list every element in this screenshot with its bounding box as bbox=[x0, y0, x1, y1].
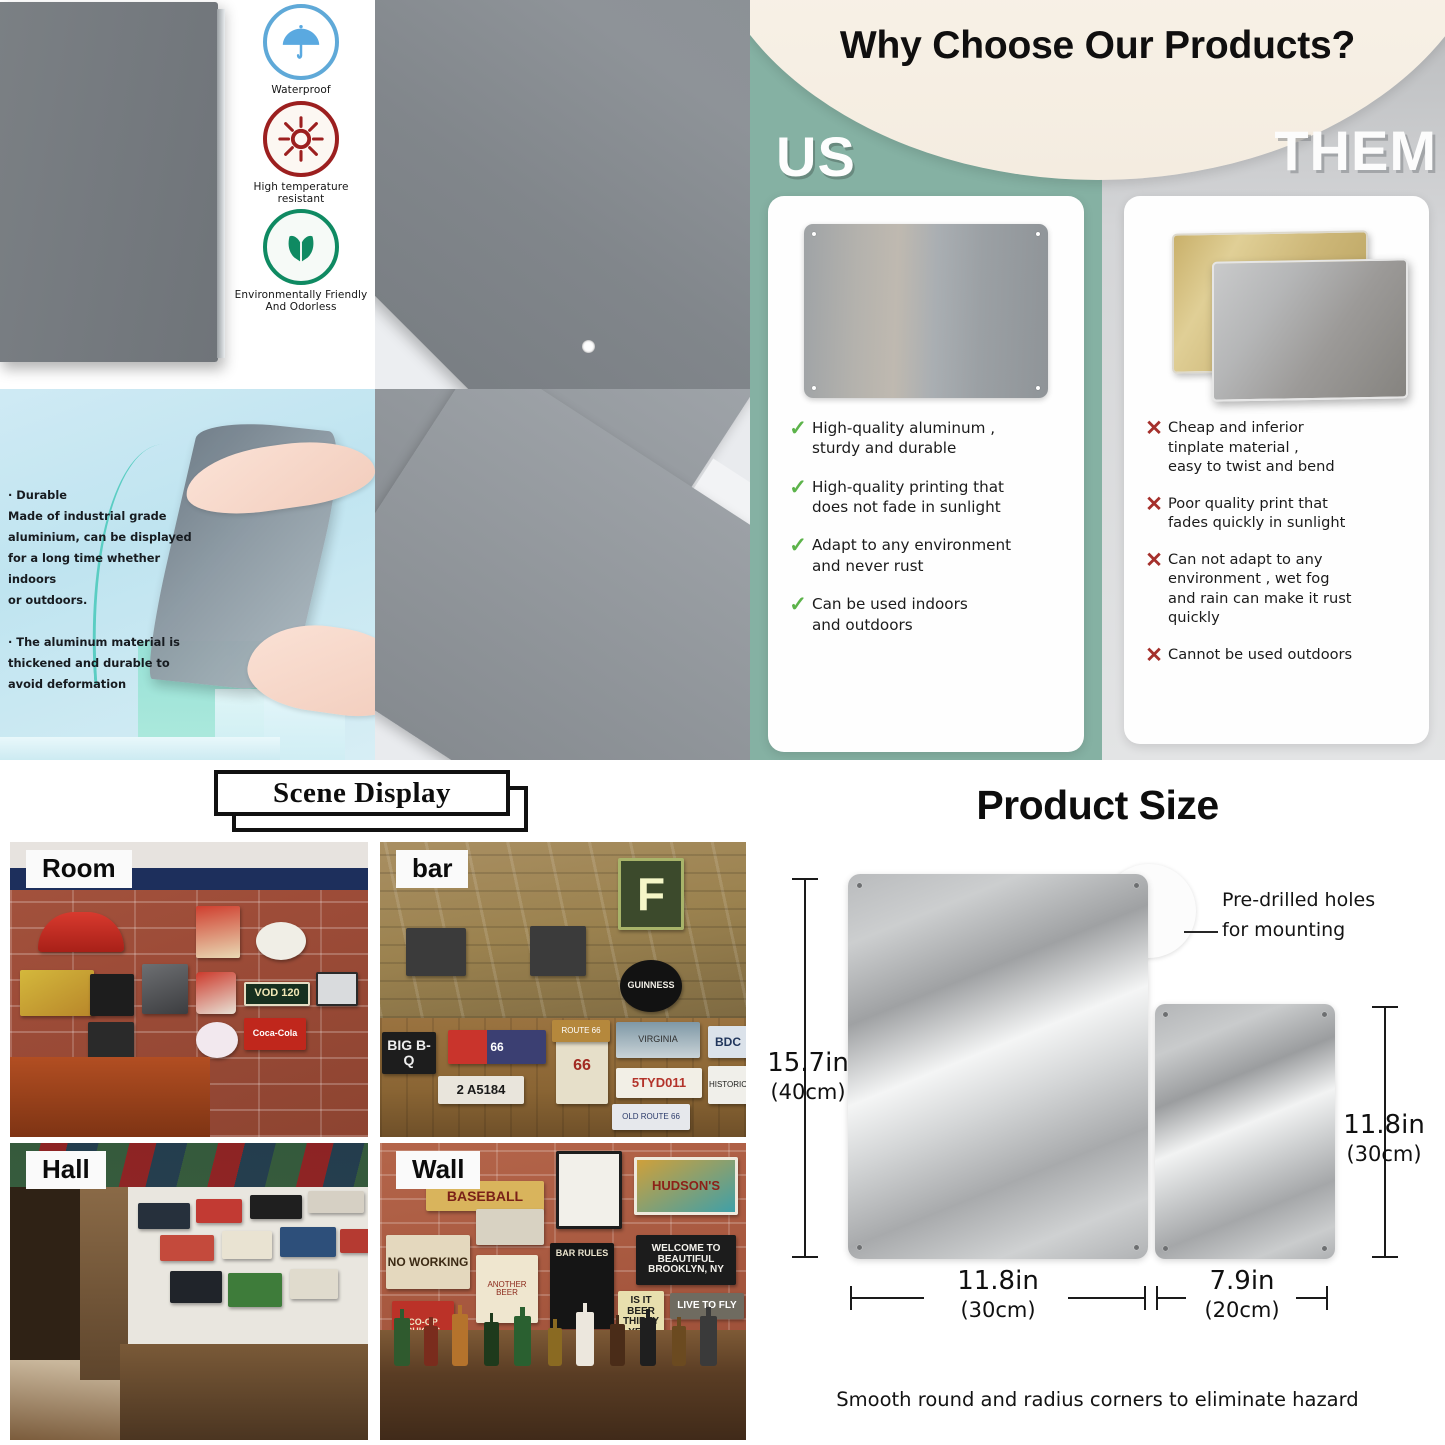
pre-drilled-hole-icon bbox=[857, 883, 862, 888]
pre-drilled-hole-icon bbox=[1322, 1246, 1327, 1251]
metal-sheet bbox=[375, 0, 750, 389]
wall-sign bbox=[90, 974, 134, 1016]
durability-line: · The aluminum material is bbox=[8, 632, 196, 653]
bottle bbox=[548, 1328, 562, 1366]
sign-bus-poster bbox=[476, 1209, 544, 1245]
dim-line-big-width bbox=[1068, 1297, 1144, 1299]
wall-sign bbox=[196, 1022, 238, 1058]
wall-plaque bbox=[308, 1191, 364, 1213]
pre-drilled-holes-label: Pre-drilled holes for mounting bbox=[1222, 885, 1442, 946]
durability-demo-panel: · Durable Made of industrial grade alumi… bbox=[0, 389, 375, 760]
us-bullet-item: ✓ High-quality printing that does not fa… bbox=[784, 477, 1072, 518]
umbrella-icon bbox=[263, 4, 339, 80]
wall-plaque bbox=[250, 1195, 302, 1219]
license-plate-66: 66 bbox=[448, 1030, 546, 1064]
product-size-panel: Product Size Pre-drilled holes for mount… bbox=[750, 760, 1445, 1445]
corner-hole-icon bbox=[1036, 386, 1040, 390]
corner-hole-icon bbox=[812, 232, 816, 236]
wine-rack bbox=[406, 928, 466, 976]
license-plate-california: 5TYD011 bbox=[616, 1068, 702, 1098]
small-width-in: 7.9in bbox=[1186, 1266, 1298, 1298]
marquee-letter-f: F bbox=[618, 858, 684, 930]
durability-line: thickened and durable to bbox=[8, 653, 196, 674]
them-heading: THEM bbox=[1274, 118, 1437, 183]
scene-tag-room: Room bbox=[26, 850, 132, 888]
route-sign: ROUTE 66 bbox=[552, 1020, 610, 1042]
scene-display-header: Scene Display bbox=[0, 760, 750, 838]
durability-line: or outdoors. bbox=[8, 590, 196, 611]
bottle bbox=[700, 1316, 717, 1366]
dim-line-big-width bbox=[852, 1297, 924, 1299]
pedestal-base bbox=[0, 737, 280, 760]
big-width-in: 11.8in bbox=[928, 1266, 1068, 1298]
them-bullet-text: Cheap and inferior tinplate material , e… bbox=[1168, 418, 1335, 477]
durability-line: Made of industrial grade bbox=[8, 506, 196, 527]
bottle bbox=[484, 1322, 499, 1366]
wall-plaque bbox=[138, 1203, 190, 1229]
scene-tag-hall: Hall bbox=[26, 1151, 106, 1189]
fuel-sign: VIRGINIA bbox=[616, 1022, 700, 1058]
big-width-cm: (30cm) bbox=[928, 1298, 1068, 1324]
license-plate-virginia: OLD ROUTE 66 bbox=[612, 1104, 690, 1130]
them-bullet-item: ✕ Cheap and inferior tinplate material ,… bbox=[1140, 418, 1417, 477]
diagonal-sheets-photo bbox=[375, 389, 750, 760]
license-plate-bdc: BDC bbox=[708, 1026, 746, 1058]
scene-tag-wall: Wall bbox=[396, 1151, 480, 1189]
scene-photo-room: Room VOD 120 Coca-Cola bbox=[10, 842, 368, 1137]
scene-display-title: Scene Display bbox=[273, 777, 451, 810]
sun-icon bbox=[263, 101, 339, 177]
check-icon: ✓ bbox=[784, 418, 812, 440]
scene-photo-hall: Hall bbox=[10, 1143, 368, 1440]
dim-cap bbox=[1372, 1256, 1398, 1258]
wall-plaque bbox=[222, 1231, 272, 1259]
wall-sign bbox=[20, 970, 94, 1016]
bottle bbox=[394, 1318, 410, 1366]
feature-high-temperature: High temperature resistant bbox=[233, 101, 369, 206]
durability-line: · Durable bbox=[8, 485, 196, 506]
scene-display-badge: Scene Display bbox=[214, 770, 510, 816]
check-icon: ✓ bbox=[784, 477, 812, 499]
wall-plaque bbox=[340, 1229, 368, 1253]
us-product-image bbox=[804, 224, 1048, 398]
table bbox=[10, 1057, 210, 1137]
us-bullet-text: High-quality aluminum , sturdy and durab… bbox=[812, 418, 995, 459]
wall-plaque bbox=[196, 1199, 242, 1223]
us-bullet-list: ✓ High-quality aluminum , sturdy and dur… bbox=[784, 418, 1072, 653]
feature-label: Waterproof bbox=[271, 85, 330, 97]
big-height-label: 15.7in (40cm) bbox=[754, 1048, 862, 1105]
us-bullet-text: High-quality printing that does not fade… bbox=[812, 477, 1004, 518]
guinness-sign: GUINNESS bbox=[620, 960, 682, 1012]
why-choose-panel: Why Choose Our Products? US THEM ✓ High-… bbox=[750, 0, 1445, 760]
bottle bbox=[640, 1318, 656, 1366]
bottle bbox=[610, 1324, 625, 1366]
wall-sign bbox=[196, 906, 240, 958]
dim-line-small-width bbox=[1296, 1297, 1326, 1299]
wall-sign bbox=[88, 1022, 134, 1060]
dim-cap bbox=[792, 878, 818, 880]
bottle bbox=[514, 1316, 531, 1366]
features-panel: Waterproof bbox=[0, 0, 375, 389]
pre-drilled-hole-icon bbox=[1322, 1012, 1327, 1017]
sign-another-beer: ANOTHER BEER bbox=[476, 1255, 538, 1323]
large-plate-image bbox=[848, 874, 1148, 1259]
wall-sign bbox=[142, 964, 188, 1014]
license-plate-number: 2 A5184 bbox=[438, 1076, 524, 1104]
size-note: Smooth round and radius corners to elimi… bbox=[750, 1388, 1445, 1411]
mounting-hole bbox=[582, 340, 595, 353]
small-height-label: 11.8in (30cm) bbox=[1328, 1110, 1440, 1167]
feature-label: Environmentally Friendly And Odorless bbox=[233, 290, 369, 314]
bottle bbox=[672, 1326, 686, 1366]
them-card: ✕ Cheap and inferior tinplate material ,… bbox=[1124, 196, 1429, 744]
scene-photo-bar: bar F GUINNESS BIG B-Q 66 2 A5184 66 ROU… bbox=[380, 842, 746, 1137]
dim-cap bbox=[792, 1256, 818, 1258]
dim-cap bbox=[1156, 1286, 1158, 1310]
callout-leader-line bbox=[1184, 931, 1218, 933]
scene-photo-wall: Wall BASEBALL HUDSON'S NO WORKING ANOTHE… bbox=[380, 1143, 746, 1440]
pre-drilled-hole-icon bbox=[1163, 1246, 1168, 1251]
product-size-title: Product Size bbox=[750, 782, 1445, 829]
pre-drilled-hole-icon bbox=[1134, 883, 1139, 888]
bottle bbox=[452, 1314, 468, 1366]
sign-hudsons: HUDSON'S bbox=[634, 1157, 738, 1215]
small-height-in: 11.8in bbox=[1328, 1110, 1440, 1142]
sign-brooklyn: WELCOME TO BEAUTIFUL BROOKLYN, NY bbox=[636, 1235, 736, 1285]
them-bullet-item: ✕ Can not adapt to any environment , wet… bbox=[1140, 550, 1417, 628]
us-bullet-item: ✓ High-quality aluminum , sturdy and dur… bbox=[784, 418, 1072, 459]
feature-icon-column: Waterproof bbox=[233, 4, 369, 314]
small-width-cm: (20cm) bbox=[1186, 1298, 1298, 1324]
historic-sign: HISTORIC bbox=[708, 1066, 746, 1104]
product-infographic: Waterproof bbox=[0, 0, 1445, 1445]
license-plate: BIG B-Q bbox=[382, 1032, 436, 1074]
wall-plaque bbox=[160, 1235, 214, 1261]
big-width-label: 11.8in (30cm) bbox=[928, 1266, 1068, 1323]
us-bullet-item: ✓ Adapt to any environment and never rus… bbox=[784, 535, 1072, 576]
durability-line: avoid deformation bbox=[8, 674, 196, 695]
cross-icon: ✕ bbox=[1140, 550, 1168, 572]
wall-plaque bbox=[170, 1271, 222, 1303]
feature-waterproof: Waterproof bbox=[233, 4, 369, 97]
dim-cap bbox=[1326, 1286, 1328, 1310]
wall-plaque bbox=[290, 1269, 338, 1299]
wall-sign bbox=[256, 922, 306, 960]
corner-hole-icon bbox=[1036, 232, 1040, 236]
big-height-in: 15.7in bbox=[754, 1048, 862, 1080]
dim-cap bbox=[850, 1286, 852, 1310]
wall-plaque bbox=[228, 1273, 282, 1307]
pre-drilled-hole-icon bbox=[1134, 1245, 1139, 1250]
them-product-image bbox=[1154, 220, 1404, 396]
scene-photo-grid: Room VOD 120 Coca-Cola bar F GUINNESS BI… bbox=[0, 838, 750, 1445]
durability-line: aluminium, can be displayed bbox=[8, 527, 196, 548]
them-bullet-text: Can not adapt to any environment , wet f… bbox=[1168, 550, 1352, 628]
wall-sign bbox=[196, 972, 236, 1014]
them-bullet-text: Poor quality print that fades quickly in… bbox=[1168, 494, 1345, 533]
pre-drilled-hole-icon bbox=[1163, 1012, 1168, 1017]
dim-line-small-width bbox=[1158, 1297, 1186, 1299]
them-bullet-list: ✕ Cheap and inferior tinplate material ,… bbox=[1140, 418, 1417, 684]
us-bullet-text: Can be used indoors and outdoors bbox=[812, 594, 968, 635]
dim-cap bbox=[1372, 1006, 1398, 1008]
bottle bbox=[576, 1312, 594, 1366]
aluminum-plate-image bbox=[0, 2, 218, 362]
pre-drilled-hole-icon bbox=[857, 1245, 862, 1250]
dim-cap bbox=[1144, 1286, 1146, 1310]
us-bullet-text: Adapt to any environment and never rust bbox=[812, 535, 1011, 576]
tables bbox=[120, 1344, 368, 1440]
wall-sign bbox=[38, 912, 124, 952]
small-plate-image bbox=[1155, 1004, 1335, 1259]
us-bullet-item: ✓ Can be used indoors and outdoors bbox=[784, 594, 1072, 635]
them-bullet-item: ✕ Cannot be used outdoors bbox=[1140, 645, 1417, 667]
check-icon: ✓ bbox=[784, 594, 812, 616]
cross-icon: ✕ bbox=[1140, 645, 1168, 667]
check-icon: ✓ bbox=[784, 535, 812, 557]
durability-line: for a long time whether indoors bbox=[8, 548, 196, 590]
us-heading: US bbox=[776, 124, 856, 189]
wall-sign-coke: Coca-Cola bbox=[244, 1018, 306, 1050]
silver-tinplate-sheet bbox=[1212, 258, 1408, 401]
wine-rack bbox=[530, 926, 586, 976]
side-wall bbox=[10, 1187, 80, 1360]
cross-icon: ✕ bbox=[1140, 418, 1168, 440]
bottle bbox=[424, 1326, 438, 1366]
small-width-label: 7.9in (20cm) bbox=[1186, 1266, 1298, 1323]
them-bullet-item: ✕ Poor quality print that fades quickly … bbox=[1140, 494, 1417, 533]
hands-plant-icon bbox=[263, 209, 339, 285]
wall-sign bbox=[316, 972, 358, 1006]
big-height-cm: (40cm) bbox=[754, 1080, 862, 1106]
them-bullet-text: Cannot be used outdoors bbox=[1168, 645, 1352, 665]
wall-plaque bbox=[280, 1227, 336, 1257]
metal-corner-photo bbox=[375, 0, 750, 389]
us-card: ✓ High-quality aluminum , sturdy and dur… bbox=[768, 196, 1084, 752]
small-height-cm: (30cm) bbox=[1328, 1142, 1440, 1168]
durability-text-block: · Durable Made of industrial grade alumi… bbox=[8, 485, 196, 695]
wall-sign-vod: VOD 120 bbox=[244, 982, 310, 1006]
scene-tag-bar: bar bbox=[396, 850, 468, 888]
sign-no-working: NO WORKING bbox=[386, 1235, 470, 1289]
cross-icon: ✕ bbox=[1140, 494, 1168, 516]
why-choose-title: Why Choose Our Products? bbox=[750, 24, 1445, 68]
sign-framed-poster bbox=[556, 1151, 622, 1229]
corner-hole-icon bbox=[812, 386, 816, 390]
feature-eco-friendly: Environmentally Friendly And Odorless bbox=[233, 209, 369, 314]
feature-label: High temperature resistant bbox=[233, 182, 369, 206]
